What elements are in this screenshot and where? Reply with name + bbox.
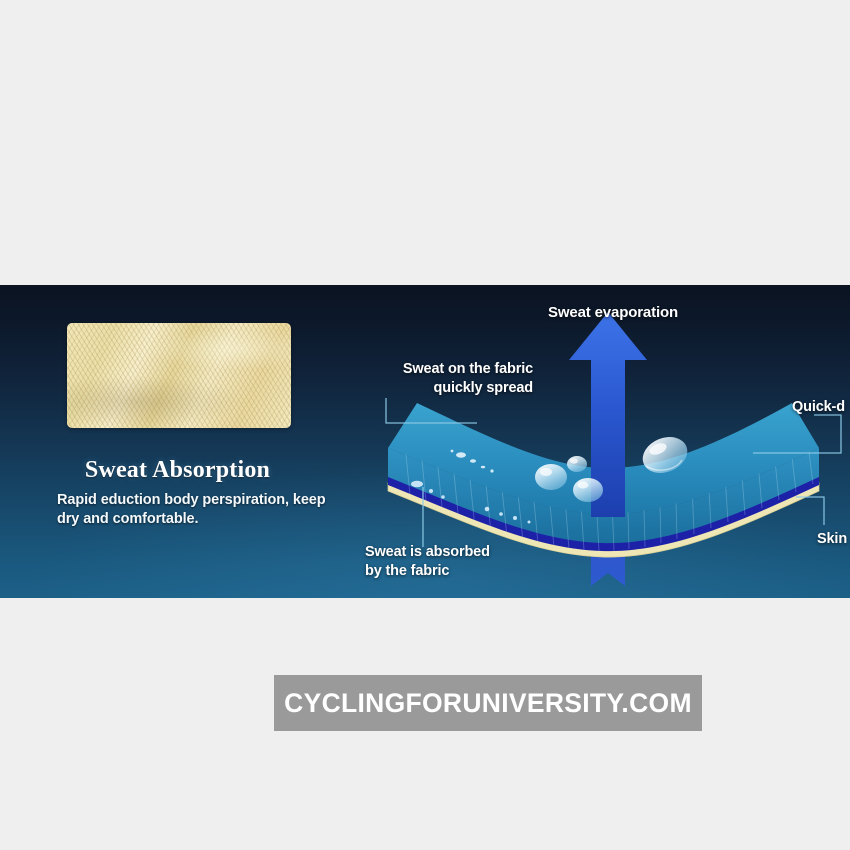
label-quick-dry: Quick-d (792, 398, 845, 417)
sweat-absorption-heading: Sweat Absorption (0, 457, 355, 484)
fabric-swatch-photo (67, 323, 291, 428)
label-sweat-evaporation: Sweat evaporation (548, 303, 678, 322)
label-sweat-absorbed: Sweat is absorbed by the fabric (365, 543, 535, 581)
banner-inner: Sweat Absorption Rapid eduction body per… (0, 285, 850, 598)
moisture-wicking-diagram: Sweat evaporation Sweat on the fabric qu… (355, 285, 850, 598)
label-skin: Skin (817, 530, 847, 549)
water-droplet-medium-1 (535, 464, 567, 490)
water-droplet-medium-2 (573, 478, 603, 502)
leader-line-skin (796, 497, 824, 525)
site-watermark: CYCLINGFORUNIVERSITY.COM (274, 675, 702, 731)
product-feature-banner: Sweat Absorption Rapid eduction body per… (0, 285, 850, 598)
sweat-absorption-description: Rapid eduction body perspiration, keep d… (57, 491, 347, 529)
watermark-text: CYCLINGFORUNIVERSITY.COM (284, 688, 692, 719)
sweat-absorption-panel: Sweat Absorption Rapid eduction body per… (0, 285, 355, 598)
label-sweat-spread: Sweat on the fabric quickly spread (363, 360, 533, 398)
water-droplet-small (567, 456, 587, 472)
